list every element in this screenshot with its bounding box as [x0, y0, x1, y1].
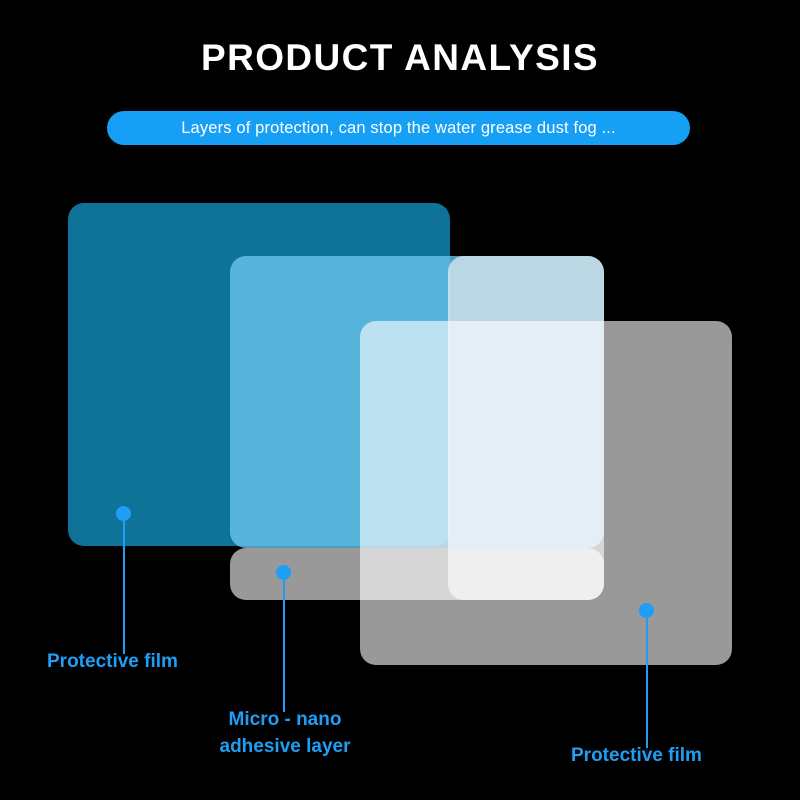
- callout-label-protective-film-right: Protective film: [571, 742, 702, 769]
- product-analysis-infographic: PRODUCT ANALYSIS Layers of protection, c…: [0, 0, 800, 800]
- callout-leader-line: [123, 518, 125, 654]
- layer-stack-diagram: [0, 0, 800, 800]
- callout-label-micro-nano-adhesive: Micro - nano adhesive layer: [205, 706, 365, 760]
- layer-panel-protective-film-front: [360, 321, 732, 665]
- callout-label-line-2: adhesive layer: [220, 736, 351, 757]
- callout-label-protective-film-left: Protective film: [47, 648, 178, 675]
- callout-label-line-1: Micro - nano: [229, 709, 342, 730]
- callout-leader-line: [646, 615, 648, 748]
- callout-leader-line: [283, 577, 285, 712]
